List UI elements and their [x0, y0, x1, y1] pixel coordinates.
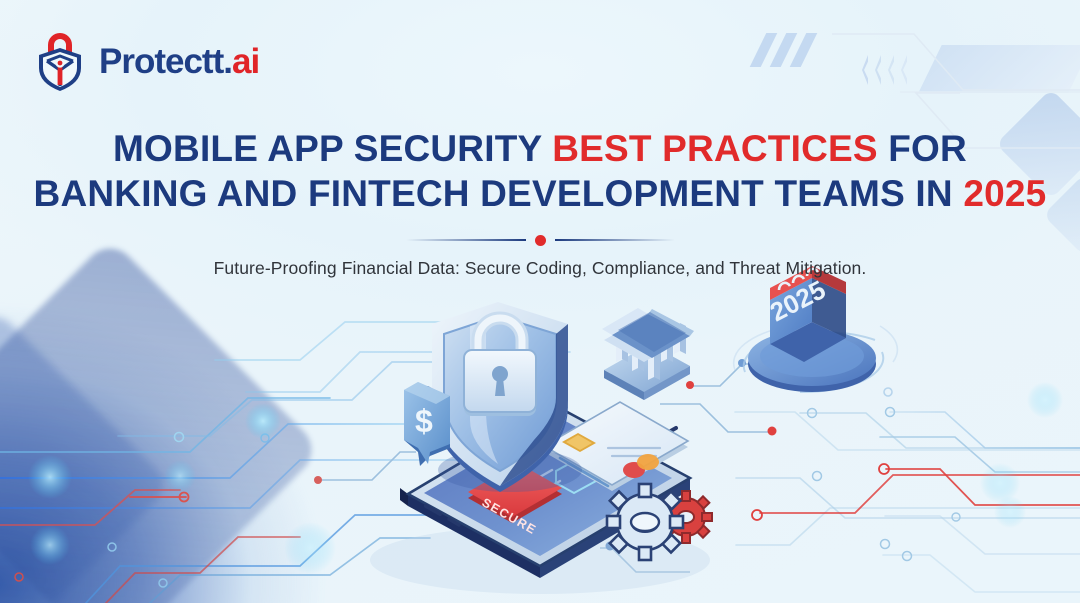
brand-name-dot: . [223, 42, 232, 81]
bank-building-icon [602, 308, 694, 400]
brand-logo[interactable]: Protectt.ai [34, 30, 259, 92]
connector-node [686, 381, 694, 389]
headline-part-1: MOBILE APP SECURITY [113, 128, 552, 169]
dollar-symbol: $ [415, 403, 433, 439]
headline-highlight-2: 2025 [963, 173, 1046, 214]
divider-dot [535, 235, 546, 246]
page-title: MOBILE APP SECURITY BEST PRACTICES FOR B… [0, 126, 1080, 216]
marketing-banner: Protectt.ai MOBILE APP SECURITY BEST PRA… [0, 0, 1080, 603]
connector-node [314, 476, 322, 484]
security-shield-group [432, 302, 582, 492]
divider-line-right [555, 239, 675, 241]
divider-line-left [406, 239, 526, 241]
card-logo-circle-orange [637, 454, 659, 470]
headline-highlight-1: BEST PRACTICES [552, 128, 878, 169]
headline-part-2: FOR [878, 128, 967, 169]
gear-large [607, 484, 683, 560]
connector-node [768, 427, 777, 436]
headline-line-2: BANKING AND FINTECH DEVELOPMENT TEAMS IN… [0, 171, 1080, 216]
money-bubble-icon: $ [404, 382, 450, 466]
headline-line-1: MOBILE APP SECURITY BEST PRACTICES FOR [113, 128, 967, 169]
calendar-2025-group: 2025 [734, 266, 898, 396]
headline-part-3: BANKING AND FINTECH DEVELOPMENT TEAMS IN [34, 173, 964, 214]
shield-padlock-icon [34, 30, 86, 92]
page-subtitle: Future-Proofing Financial Data: Secure C… [0, 258, 1080, 279]
brand-wordmark: Protectt.ai [99, 44, 259, 79]
brand-name-suffix: ai [232, 42, 259, 81]
decorative-divider [390, 234, 690, 246]
brand-name-main: Protectt [99, 42, 223, 81]
